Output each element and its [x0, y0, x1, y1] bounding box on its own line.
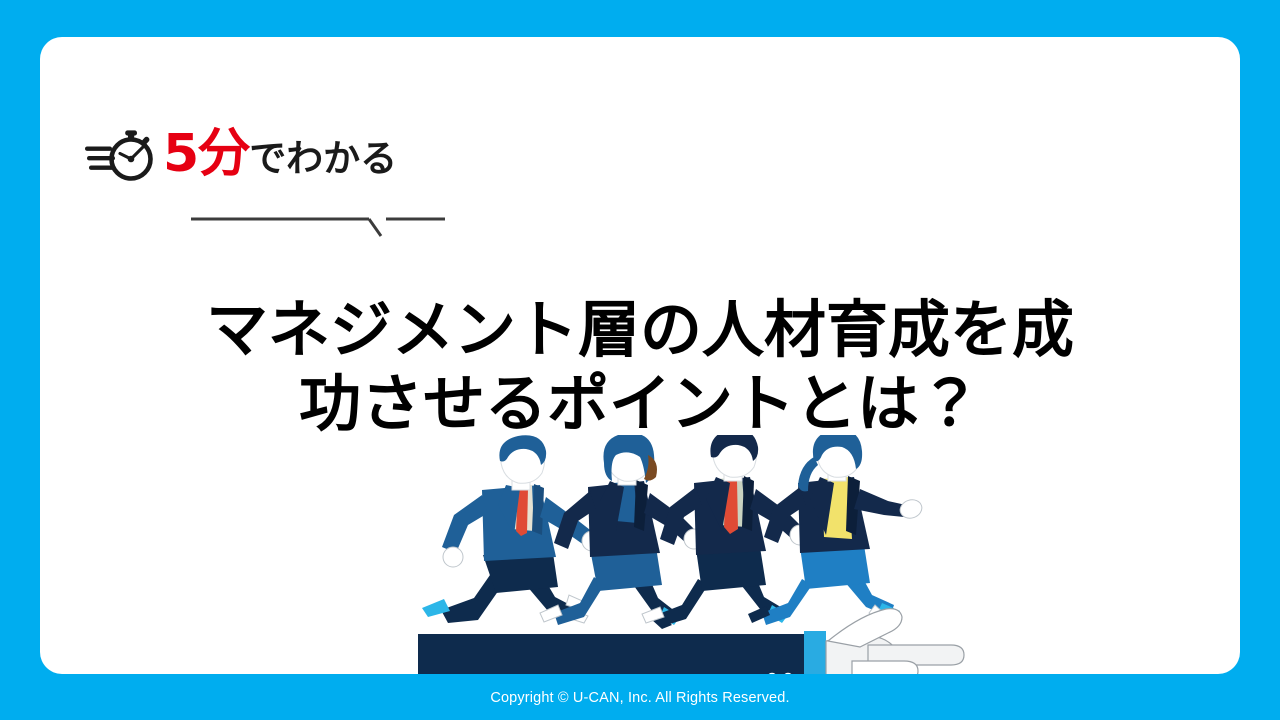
copyright-text: Copyright © U-CAN, Inc. All Rights Reser…	[0, 690, 1280, 706]
pointing-hand-graphic	[418, 609, 964, 674]
person-3-businessman	[642, 435, 810, 627]
folded-finger	[852, 661, 918, 674]
kicker-suffix: でわかる	[249, 137, 397, 180]
kicker-underline-rule	[150, 215, 450, 241]
kicker-banner: 5分でわかる	[85, 117, 397, 191]
slide-card: 5分でわかる マネジメント層の人材育成を成 功させるポイントとは？	[40, 37, 1240, 674]
slide-canvas: 5分でわかる マネジメント層の人材育成を成 功させるポイントとは？	[0, 0, 1280, 720]
page-title: マネジメント層の人材育成を成 功させるポイントとは？	[40, 293, 1240, 442]
person-4-businesswoman	[748, 435, 924, 625]
person-2-businesswoman	[540, 435, 704, 629]
sleeve-cuff	[804, 631, 826, 674]
page-title-line-2: 功させるポイントとは？	[40, 367, 1240, 441]
sleeve-bar	[418, 634, 804, 674]
running-business-people-illustration	[408, 435, 978, 674]
kicker-minutes: 5分	[163, 124, 249, 184]
kicker-text: 5分でわかる	[163, 128, 397, 180]
stopwatch-icon	[85, 124, 161, 184]
thumb	[828, 609, 902, 647]
page-title-line-1: マネジメント層の人材育成を成	[40, 293, 1240, 367]
